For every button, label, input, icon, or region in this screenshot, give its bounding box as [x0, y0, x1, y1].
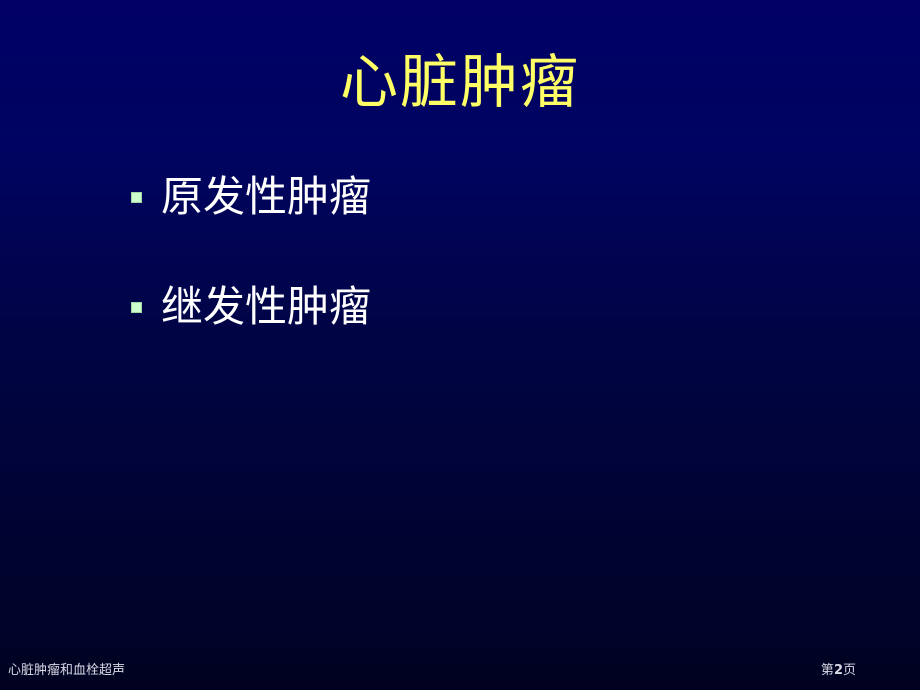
list-item[interactable]: 原发性肿瘤 — [131, 172, 811, 282]
page-title: 心脏肿瘤 — [0, 46, 920, 118]
square-bullet-icon — [131, 302, 142, 313]
page-suffix-label: 页 — [843, 663, 856, 678]
list-item-label: 原发性肿瘤 — [161, 172, 811, 222]
bullet-list: 原发性肿瘤 继发性肿瘤 — [131, 172, 811, 392]
page-number-value: 2 — [834, 663, 843, 678]
list-item[interactable]: 继发性肿瘤 — [131, 282, 811, 392]
page-prefix-label: 第 — [821, 663, 834, 678]
square-bullet-icon — [131, 192, 142, 203]
page-number-indicator: 第2页 — [821, 663, 856, 679]
footer-title: 心脏肿瘤和血栓超声 — [8, 663, 125, 679]
list-item-label: 继发性肿瘤 — [161, 282, 811, 332]
slide-canvas: 心脏肿瘤 原发性肿瘤 继发性肿瘤 心脏肿瘤和血栓超声 第2页 — [0, 0, 920, 690]
